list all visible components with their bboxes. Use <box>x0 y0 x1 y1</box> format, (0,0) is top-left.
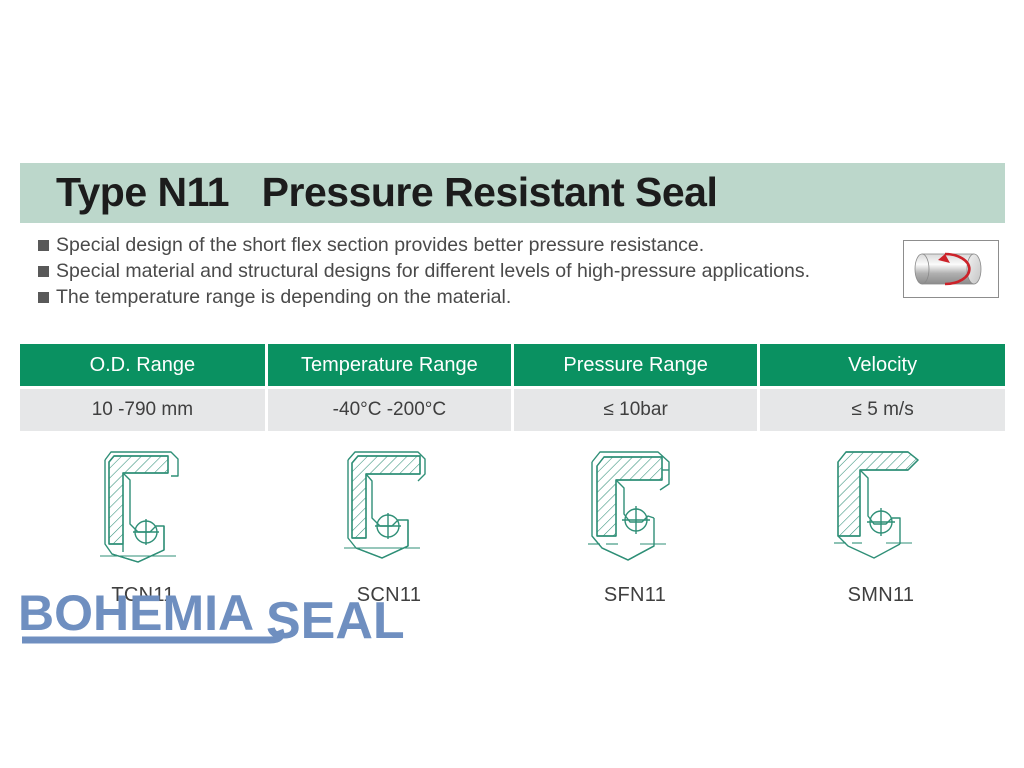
table-row: 10 -790 mm -40°C -200°C ≤ 10bar ≤ 5 m/s <box>20 388 1005 432</box>
seal-cross-section-tcn11 <box>78 440 208 580</box>
column-header-pressure-range: Pressure Range <box>513 344 759 388</box>
seal-diagram-row: TCN11 <box>20 440 1005 607</box>
seal-type-tcn11: TCN11 <box>20 440 266 607</box>
seal-cross-section-smn11 <box>816 440 946 580</box>
feature-text: Special design of the short flex section… <box>56 233 704 258</box>
cell-velocity: ≤ 5 m/s <box>759 388 1005 432</box>
seal-cross-section-scn11 <box>324 440 454 580</box>
feature-text: The temperature range is depending on th… <box>56 285 511 310</box>
cell-temperature-range: -40°C -200°C <box>266 388 512 432</box>
seal-type-sfn11: SFN11 <box>512 440 758 607</box>
feature-list: Special design of the short flex section… <box>38 233 888 311</box>
page-title: Type N11 Pressure Resistant Seal <box>56 162 717 222</box>
square-bullet-icon <box>38 240 49 251</box>
column-header-temperature-range: Temperature Range <box>266 344 512 388</box>
specification-table: O.D. Range Temperature Range Pressure Ra… <box>20 344 1005 431</box>
rotating-shaft-icon <box>904 241 998 297</box>
title-band: Type N11 Pressure Resistant Seal <box>20 163 1005 223</box>
rotating-shaft-icon-box <box>903 240 999 298</box>
table-header-row: O.D. Range Temperature Range Pressure Ra… <box>20 344 1005 388</box>
list-item: Special material and structural designs … <box>38 259 888 284</box>
seal-cross-section-sfn11 <box>570 440 700 580</box>
cell-od-range: 10 -790 mm <box>20 388 266 432</box>
seal-type-smn11: SMN11 <box>758 440 1004 607</box>
seal-label-sfn11: SFN11 <box>604 584 666 607</box>
feature-text: Special material and structural designs … <box>56 259 810 284</box>
square-bullet-icon <box>38 292 49 303</box>
cell-pressure-range: ≤ 10bar <box>513 388 759 432</box>
seal-type-scn11: SCN11 <box>266 440 512 607</box>
column-header-velocity: Velocity <box>759 344 1005 388</box>
seal-label-tcn11: TCN11 <box>111 584 174 607</box>
square-bullet-icon <box>38 266 49 277</box>
seal-label-scn11: SCN11 <box>357 584 422 607</box>
list-item: The temperature range is depending on th… <box>38 285 888 310</box>
seal-label-smn11: SMN11 <box>848 584 915 607</box>
column-header-od-range: O.D. Range <box>20 344 266 388</box>
list-item: Special design of the short flex section… <box>38 233 888 258</box>
